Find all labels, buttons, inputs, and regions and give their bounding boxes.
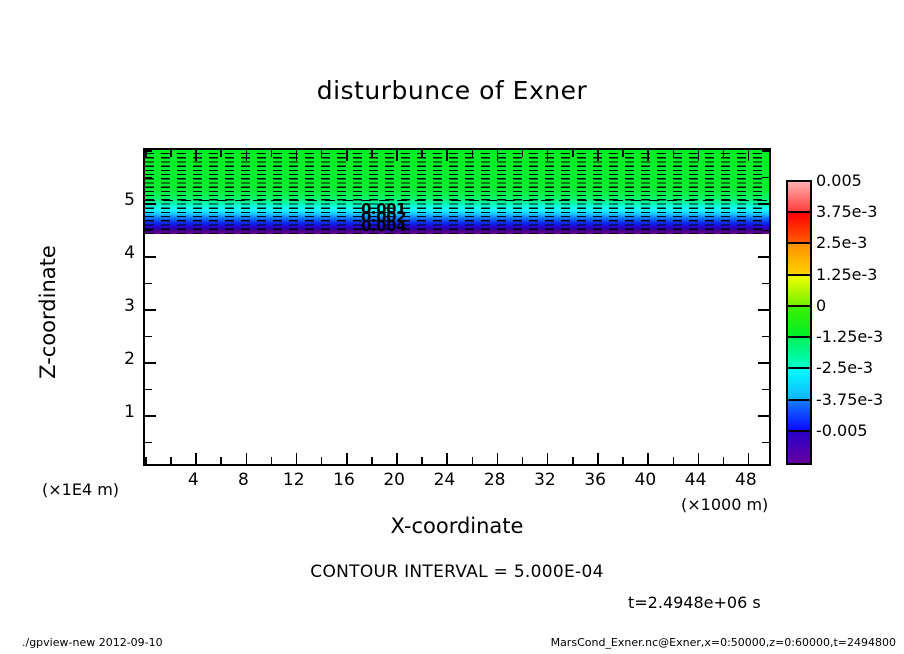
x-tick-bottom	[647, 453, 649, 464]
x-tick-label: 32	[520, 470, 570, 490]
x-tick-bottom	[723, 457, 725, 464]
x-tick-top	[220, 150, 222, 157]
x-tick-top	[296, 150, 298, 161]
x-axis-title: X-coordinate	[143, 514, 771, 538]
colorbar-band	[788, 338, 810, 369]
x-tick-bottom	[296, 453, 298, 464]
x-tick-bottom	[748, 453, 750, 464]
x-tick-bottom	[446, 453, 448, 464]
y-tick-right	[762, 442, 769, 444]
x-tick-bottom	[195, 453, 197, 464]
y-tick-left	[145, 362, 156, 364]
x-tick-label: 16	[319, 470, 369, 490]
y-tick-right	[758, 309, 769, 311]
y-tick-left	[145, 389, 152, 391]
plot-area[interactable]: 0.001 0.002 0.004	[143, 148, 771, 466]
y-tick-left	[145, 150, 152, 152]
x-tick-top	[472, 150, 474, 157]
x-tick-top	[396, 150, 398, 161]
y-tick-label: 4	[105, 243, 135, 263]
x-tick-label: 8	[218, 470, 268, 490]
x-tick-bottom	[547, 453, 549, 464]
y-tick-right	[758, 203, 769, 205]
x-tick-bottom	[145, 457, 147, 464]
x-tick-bottom	[572, 457, 574, 464]
x-tick-label: 48	[721, 470, 771, 490]
x-tick-top	[698, 150, 700, 161]
footer-source-text: MarsCond_Exner.nc@Exner,x=0:50000,z=0:60…	[551, 636, 896, 649]
x-tick-bottom	[220, 457, 222, 464]
x-tick-top	[497, 150, 499, 161]
x-tick-top	[647, 150, 649, 161]
x-tick-top	[572, 150, 574, 157]
colorbar-band	[788, 401, 810, 432]
colorbar-tick-label: 0	[816, 296, 826, 315]
y-tick-right	[758, 256, 769, 258]
x-axis-unit-label: (×1000 m)	[681, 495, 768, 514]
y-tick-right	[762, 389, 769, 391]
y-tick-left	[145, 283, 152, 285]
footer-command-text: ./gpview-new 2012-09-10	[22, 636, 163, 649]
x-tick-top	[622, 150, 624, 157]
colorbar-band	[788, 244, 810, 275]
colorbar-tick-label: 2.5e-3	[816, 233, 867, 252]
y-tick-label: 5	[105, 190, 135, 210]
colorbar-tick-label: 3.75e-3	[816, 202, 877, 221]
y-tick-left	[145, 415, 156, 417]
colorbar-tick-label: -2.5e-3	[816, 358, 873, 377]
x-tick-top	[321, 150, 323, 157]
colorbar-tick-label: -0.005	[816, 421, 868, 440]
colorbar-tick-label: -3.75e-3	[816, 390, 883, 409]
contour-lines-overlay	[145, 150, 769, 234]
x-tick-bottom	[271, 457, 273, 464]
x-tick-label: 4	[168, 470, 218, 490]
y-tick-right	[762, 336, 769, 338]
x-tick-top	[748, 150, 750, 161]
colorbar-tick-label: -1.25e-3	[816, 327, 883, 346]
x-tick-bottom	[396, 453, 398, 464]
x-tick-label: 20	[369, 470, 419, 490]
x-tick-label: 12	[269, 470, 319, 490]
colorbar-tick-label: 0.005	[816, 171, 862, 190]
y-tick-left	[145, 309, 156, 311]
x-tick-label: 28	[470, 470, 520, 490]
heatmap-field	[145, 150, 769, 234]
y-tick-right	[762, 283, 769, 285]
x-tick-top	[673, 150, 675, 157]
page-title: disturbunce of Exner	[0, 76, 904, 105]
x-tick-bottom	[371, 457, 373, 464]
x-tick-top	[246, 150, 248, 161]
x-tick-top	[195, 150, 197, 161]
y-tick-right	[762, 177, 769, 179]
x-tick-top	[421, 150, 423, 157]
x-tick-bottom	[622, 457, 624, 464]
colorbar-band	[788, 213, 810, 244]
x-tick-label: 40	[620, 470, 670, 490]
x-tick-top	[346, 150, 348, 161]
x-tick-label: 24	[419, 470, 469, 490]
y-tick-label: 2	[105, 349, 135, 369]
colorbar-band	[788, 276, 810, 307]
x-tick-bottom	[170, 457, 172, 464]
y-tick-right	[762, 150, 769, 152]
x-tick-bottom	[472, 457, 474, 464]
contour-inline-label: 0.004	[361, 217, 406, 235]
x-tick-bottom	[597, 453, 599, 464]
y-tick-left	[145, 336, 152, 338]
x-tick-top	[547, 150, 549, 161]
y-tick-left	[145, 177, 152, 179]
x-tick-top	[723, 150, 725, 157]
x-tick-bottom	[321, 457, 323, 464]
x-tick-bottom	[346, 453, 348, 464]
y-tick-left	[145, 203, 156, 205]
y-tick-left	[145, 256, 156, 258]
time-annotation: t=2.4948e+06 s	[628, 593, 761, 612]
y-tick-right	[762, 230, 769, 232]
x-tick-bottom	[698, 453, 700, 464]
colorbar-band	[788, 307, 810, 338]
x-tick-top	[271, 150, 273, 157]
x-tick-label: 44	[671, 470, 721, 490]
x-tick-bottom	[497, 453, 499, 464]
y-tick-left	[145, 442, 152, 444]
y-tick-right	[758, 362, 769, 364]
x-tick-top	[597, 150, 599, 161]
x-tick-top	[170, 150, 172, 157]
x-tick-bottom	[673, 457, 675, 464]
x-tick-bottom	[421, 457, 423, 464]
colorbar-tick-label: 1.25e-3	[816, 265, 877, 284]
contour-interval-text: CONTOUR INTERVAL = 5.000E-04	[143, 562, 771, 582]
y-axis-unit-label: (×1E4 m)	[42, 480, 119, 499]
x-tick-bottom	[246, 453, 248, 464]
x-tick-top	[371, 150, 373, 157]
y-axis-title: Z-coordinate	[36, 212, 60, 412]
x-tick-top	[446, 150, 448, 161]
x-tick-top	[522, 150, 524, 157]
colorbar[interactable]	[786, 180, 812, 465]
y-tick-left	[145, 230, 152, 232]
x-tick-label: 36	[570, 470, 620, 490]
y-tick-label: 3	[105, 296, 135, 316]
colorbar-band	[788, 369, 810, 400]
colorbar-band	[788, 182, 810, 213]
y-tick-label: 1	[105, 402, 135, 422]
y-tick-right	[758, 415, 769, 417]
x-tick-bottom	[522, 457, 524, 464]
contour-lines-upper-band	[145, 196, 769, 204]
colorbar-band	[788, 432, 810, 463]
